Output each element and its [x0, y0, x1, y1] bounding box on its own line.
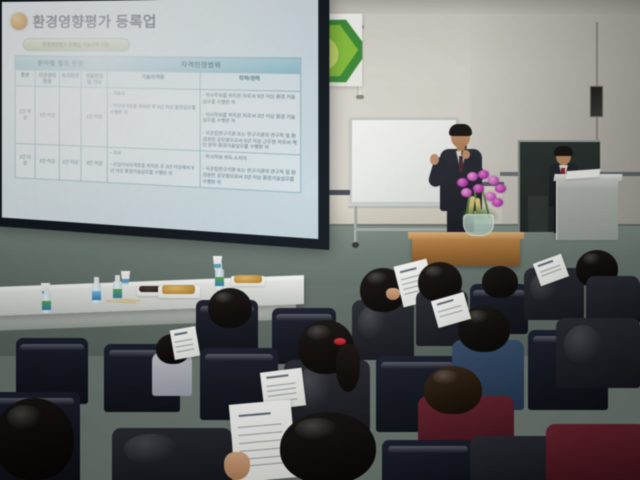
- cookie-pile: [162, 285, 195, 294]
- audience-member: [424, 366, 482, 414]
- cell-total: 1인 이상: [15, 143, 35, 178]
- orchid-bloom: [467, 172, 478, 181]
- tube-cap-bottom: [356, 95, 364, 99]
- projection-screen: 환경영향평가 등록업 환경영향평가 등록업 기술인력 기준 분야별 필요 인원 …: [0, 0, 329, 250]
- bottle-cap: [94, 277, 99, 284]
- hair-highlight: [367, 272, 387, 285]
- hair-highlight: [583, 253, 601, 264]
- handout-line: [239, 431, 282, 436]
- orchid-bloom: [495, 184, 506, 193]
- podium: [556, 178, 618, 240]
- audience-member: [0, 398, 74, 480]
- slide-table: 분야별 필요 인원 자격인정범위 총원 자연생태환경 토지환경 생활환경 및 기…: [15, 55, 302, 193]
- handout-line: [268, 393, 297, 398]
- hair-highlight: [7, 405, 42, 430]
- whiteboard-caster: [352, 242, 359, 248]
- audience-hand: [386, 288, 400, 300]
- cell-certificate: - 기술사 - 기사자격증을 취득한 후 5년 이상 환경실무를 수행한 자: [108, 88, 200, 151]
- side-chair: [528, 196, 548, 232]
- hair-highlight: [425, 266, 444, 278]
- presenter-hand-right: [462, 150, 470, 159]
- handout-heading: [238, 412, 270, 417]
- purple-orchid-arrangement: [445, 168, 511, 238]
- cell-nature: 1인 이상: [35, 87, 59, 145]
- orchid-bloom: [473, 184, 484, 193]
- handout-heading: [538, 260, 553, 267]
- presentation-slide: 환경영향평가 등록업 환경영향평가 등록업 기술인력 기준 분야별 필요 인원 …: [2, 0, 319, 239]
- audience-member: [482, 266, 518, 298]
- cell-land: [60, 87, 82, 146]
- audience-head: [482, 266, 518, 298]
- slide-title-bar: 환경영향평가 등록업: [11, 4, 309, 35]
- bottle-cap: [44, 287, 49, 294]
- lecture-hall-photo: 수회 구전학동분 한경공학과 환경영향평가 등록업 환경영향평가 등록업 기술인…: [0, 0, 640, 480]
- handout-heading: [436, 299, 454, 306]
- audience-member: [208, 288, 252, 328]
- presenter-hand-left: [430, 154, 439, 165]
- cell-education: - 학사학위를 취득한 자로서 5년 이상 환경 기술실무를 수행한 자 - 석…: [200, 90, 301, 155]
- handout-line: [240, 439, 283, 444]
- water-bottle: [113, 275, 122, 301]
- bottle-label: [113, 289, 122, 298]
- audience-member: [280, 412, 376, 480]
- water-bottle: [92, 277, 101, 303]
- whiteboard-leg-left: [354, 206, 357, 244]
- orchid-bloom: [461, 188, 472, 197]
- water-bottle: [42, 287, 51, 313]
- handout-line: [176, 348, 194, 352]
- handout-line: [267, 387, 296, 392]
- sub-header-nature: 자연생태환경: [35, 70, 59, 87]
- cookie-pile: [234, 275, 262, 283]
- orchid-bloom: [478, 170, 489, 179]
- audience-body-maroon: [546, 424, 640, 480]
- sub-header-land: 토지환경: [60, 70, 82, 87]
- presenter-hair: [449, 124, 472, 136]
- group-header-personnel: 분야별 필요 인원: [15, 56, 107, 71]
- handout-line: [267, 382, 296, 387]
- bottle-cap: [115, 275, 120, 282]
- orchid-bloom: [457, 178, 468, 187]
- slide-title: 환경영향평가 등록업: [33, 10, 157, 31]
- audience-body: [586, 276, 640, 324]
- sub-header-living: 생활환경 및 기타: [81, 71, 107, 89]
- bottle-label: [42, 301, 51, 310]
- orange-sphere-logo-icon: [11, 12, 28, 29]
- bottle-label: [92, 291, 101, 300]
- audience-body: [556, 318, 640, 388]
- handout-heading: [399, 267, 417, 273]
- seat-highlight: [20, 344, 83, 351]
- auditorium-seat: [382, 440, 474, 480]
- sub-header-certificate: 기술자격증: [108, 71, 200, 90]
- cell-total: 1인 이상: [15, 86, 35, 144]
- cell-certificate: - 기사 - 산업기사자격증을 취득한 후 3년 이상에서 5년 이상 환경기술…: [108, 147, 200, 187]
- cell-land: 1인 이상: [60, 145, 82, 181]
- handout-line: [176, 343, 194, 347]
- hair-highlight: [215, 292, 234, 304]
- audience-body: [112, 428, 232, 480]
- assistant-hair: [554, 146, 573, 156]
- cell-living: 3인 이상: [81, 146, 107, 182]
- handout-heading: [174, 332, 188, 336]
- sub-header-total: 총원: [15, 70, 35, 87]
- hair-highlight: [295, 418, 337, 440]
- seat-highlight: [205, 354, 274, 361]
- bottle-label: [215, 277, 224, 286]
- cell-nature: 2인 이상: [35, 144, 59, 179]
- handout-line: [175, 339, 193, 343]
- ponytail: [336, 344, 360, 392]
- handout-heading: [266, 375, 288, 380]
- cell-education: - 학사학위 취득 소지자 - 국공립연구기관 또는 연구기관의 연구직 및 환…: [200, 151, 301, 193]
- screen-surface: 환경영향평가 등록업 환경영향평가 등록업 기술인력 기준 분야별 필요 인원 …: [2, 0, 319, 239]
- handout-line: [238, 424, 281, 429]
- slide-subtitle: 환경영향평가 등록업 기술인력 기준: [23, 38, 131, 52]
- audience-hand: [224, 452, 250, 480]
- cell-living: 1인 이상: [81, 88, 107, 147]
- hair-highlight: [433, 370, 459, 384]
- sub-header-education: 학력/경력: [200, 72, 301, 92]
- hair-highlight: [307, 325, 332, 341]
- seat-highlight: [388, 446, 469, 453]
- handout-line: [240, 447, 283, 452]
- wall-speaker-icon: [590, 86, 603, 117]
- handout-paper: [170, 326, 201, 360]
- glass-vase: [463, 214, 494, 236]
